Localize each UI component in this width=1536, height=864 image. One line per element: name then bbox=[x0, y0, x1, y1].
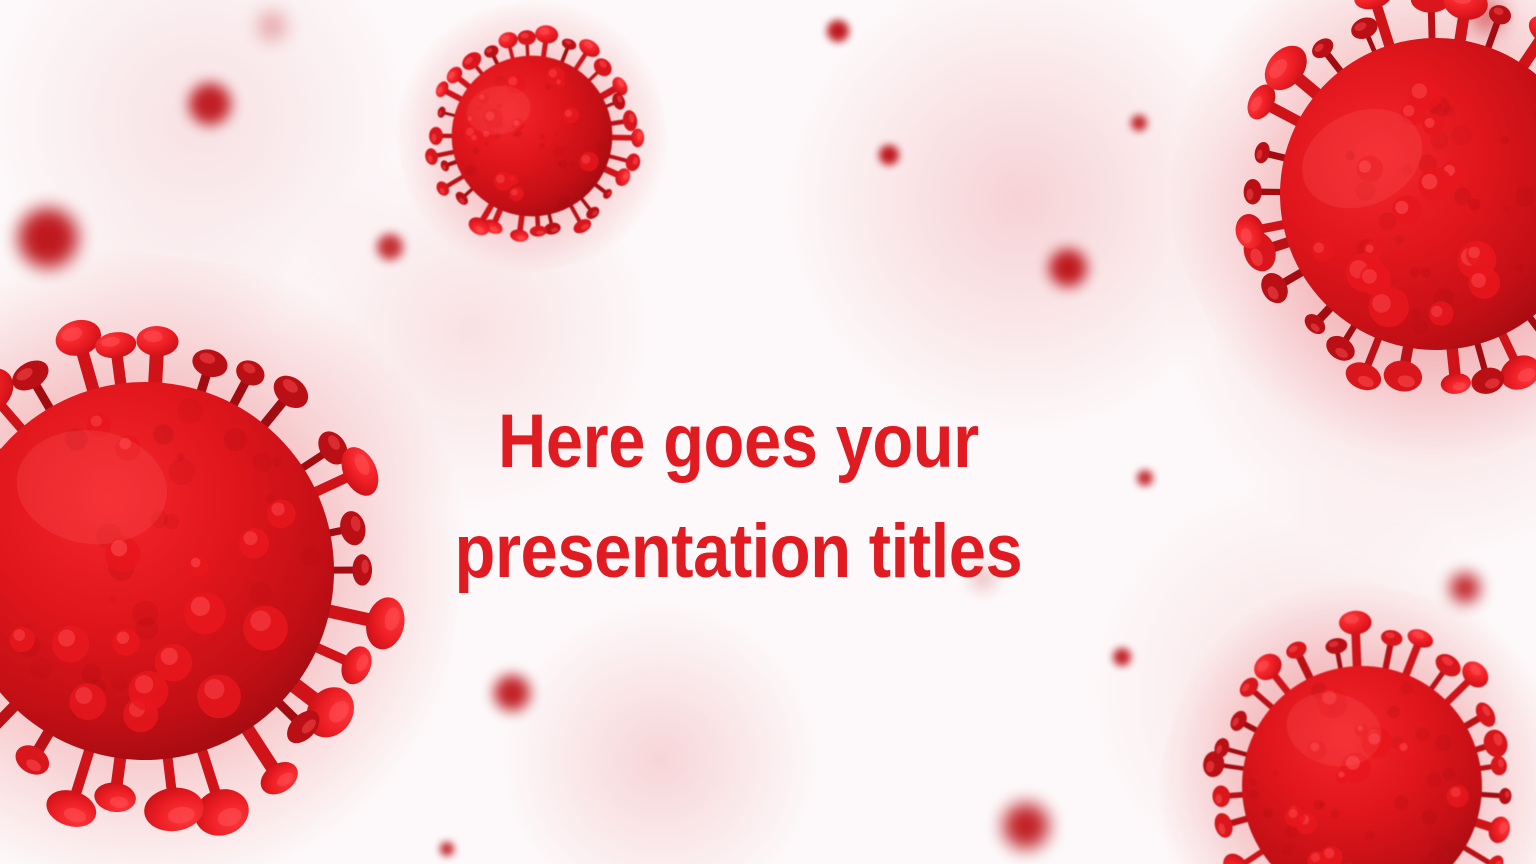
particle-6 bbox=[879, 145, 899, 165]
virus-left-large bbox=[0, 215, 501, 864]
virus-bottom-right bbox=[1120, 544, 1536, 864]
particle-2 bbox=[189, 83, 231, 125]
particle-5 bbox=[827, 20, 849, 42]
particle-14 bbox=[494, 675, 530, 711]
presentation-slide: Here goes your presentation titles bbox=[0, 0, 1536, 864]
particle-9 bbox=[1137, 470, 1153, 486]
particle-12 bbox=[1113, 648, 1131, 666]
particle-16 bbox=[1470, 0, 1504, 33]
particle-8 bbox=[1049, 249, 1087, 287]
page-title: Here goes your presentation titles bbox=[448, 387, 1029, 607]
particle-4 bbox=[377, 234, 403, 260]
particle-3 bbox=[18, 208, 78, 268]
particle-1 bbox=[257, 11, 287, 41]
particle-10 bbox=[1450, 573, 1480, 603]
virus-top-center bbox=[373, 0, 691, 295]
particle-13 bbox=[1003, 803, 1049, 849]
particle-7 bbox=[1131, 115, 1147, 131]
virus-top-right bbox=[1093, 0, 1536, 537]
particle-15 bbox=[440, 842, 454, 856]
